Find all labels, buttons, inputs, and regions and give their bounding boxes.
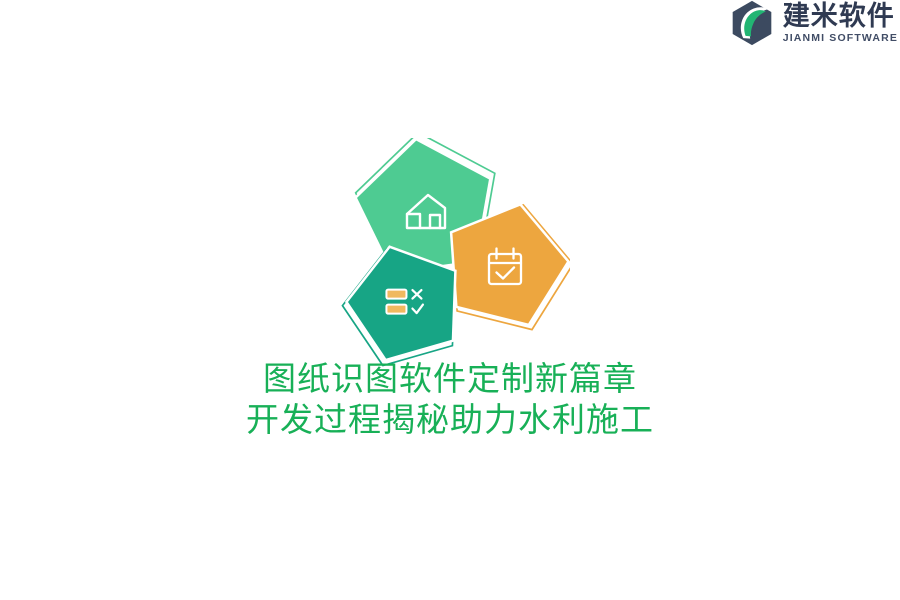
building-pentagon-gap: [350, 138, 500, 275]
brand-header: 建米软件 JIANMI SOFTWARE: [0, 0, 900, 52]
jianmi-leaf-hexagon-logo-icon: [729, 0, 775, 46]
calendar-check-icon: [489, 249, 521, 285]
page-title-line-1: 图纸识图软件定制新篇章: [0, 358, 900, 399]
brand-text-block: 建米软件 JIANMI SOFTWARE: [783, 2, 898, 44]
building-pentagon-fill: [350, 138, 500, 275]
cross-icon-stroke-2: [412, 290, 421, 299]
check-icon-stroke: [412, 305, 423, 314]
checklist-pentagon-outline: [331, 232, 474, 370]
brand-name: 建米软件: [783, 2, 898, 30]
hero-illustration: [0, 0, 900, 600]
calendar-pentagon-outline: [434, 190, 570, 336]
checklist-pentagon-gap: [337, 233, 472, 364]
brand-subtitle: JIANMI SOFTWARE: [783, 33, 898, 44]
checklist-bar-bottom: [386, 305, 406, 314]
checklist-bar-top: [386, 290, 406, 299]
checklist-pentagon: [331, 232, 474, 370]
pentagon-cluster-graphic: [318, 138, 570, 370]
building-pentagon-outline: [349, 138, 507, 275]
checklist-pentagon-fill: [337, 233, 472, 364]
building-pentagon: [349, 138, 507, 275]
cross-icon-stroke-1: [412, 290, 421, 299]
checklist-icon: [386, 290, 423, 314]
building-icon: [407, 195, 445, 228]
calendar-pentagon: [434, 190, 570, 336]
page-title-line-2: 开发过程揭秘助力水利施工: [0, 399, 900, 440]
page-title: 图纸识图软件定制新篇章 开发过程揭秘助力水利施工: [0, 358, 900, 440]
calendar-pentagon-fill: [436, 192, 570, 329]
calendar-pentagon-gap: [436, 192, 570, 329]
brand-logo[interactable]: 建米软件 JIANMI SOFTWARE: [729, 0, 898, 46]
